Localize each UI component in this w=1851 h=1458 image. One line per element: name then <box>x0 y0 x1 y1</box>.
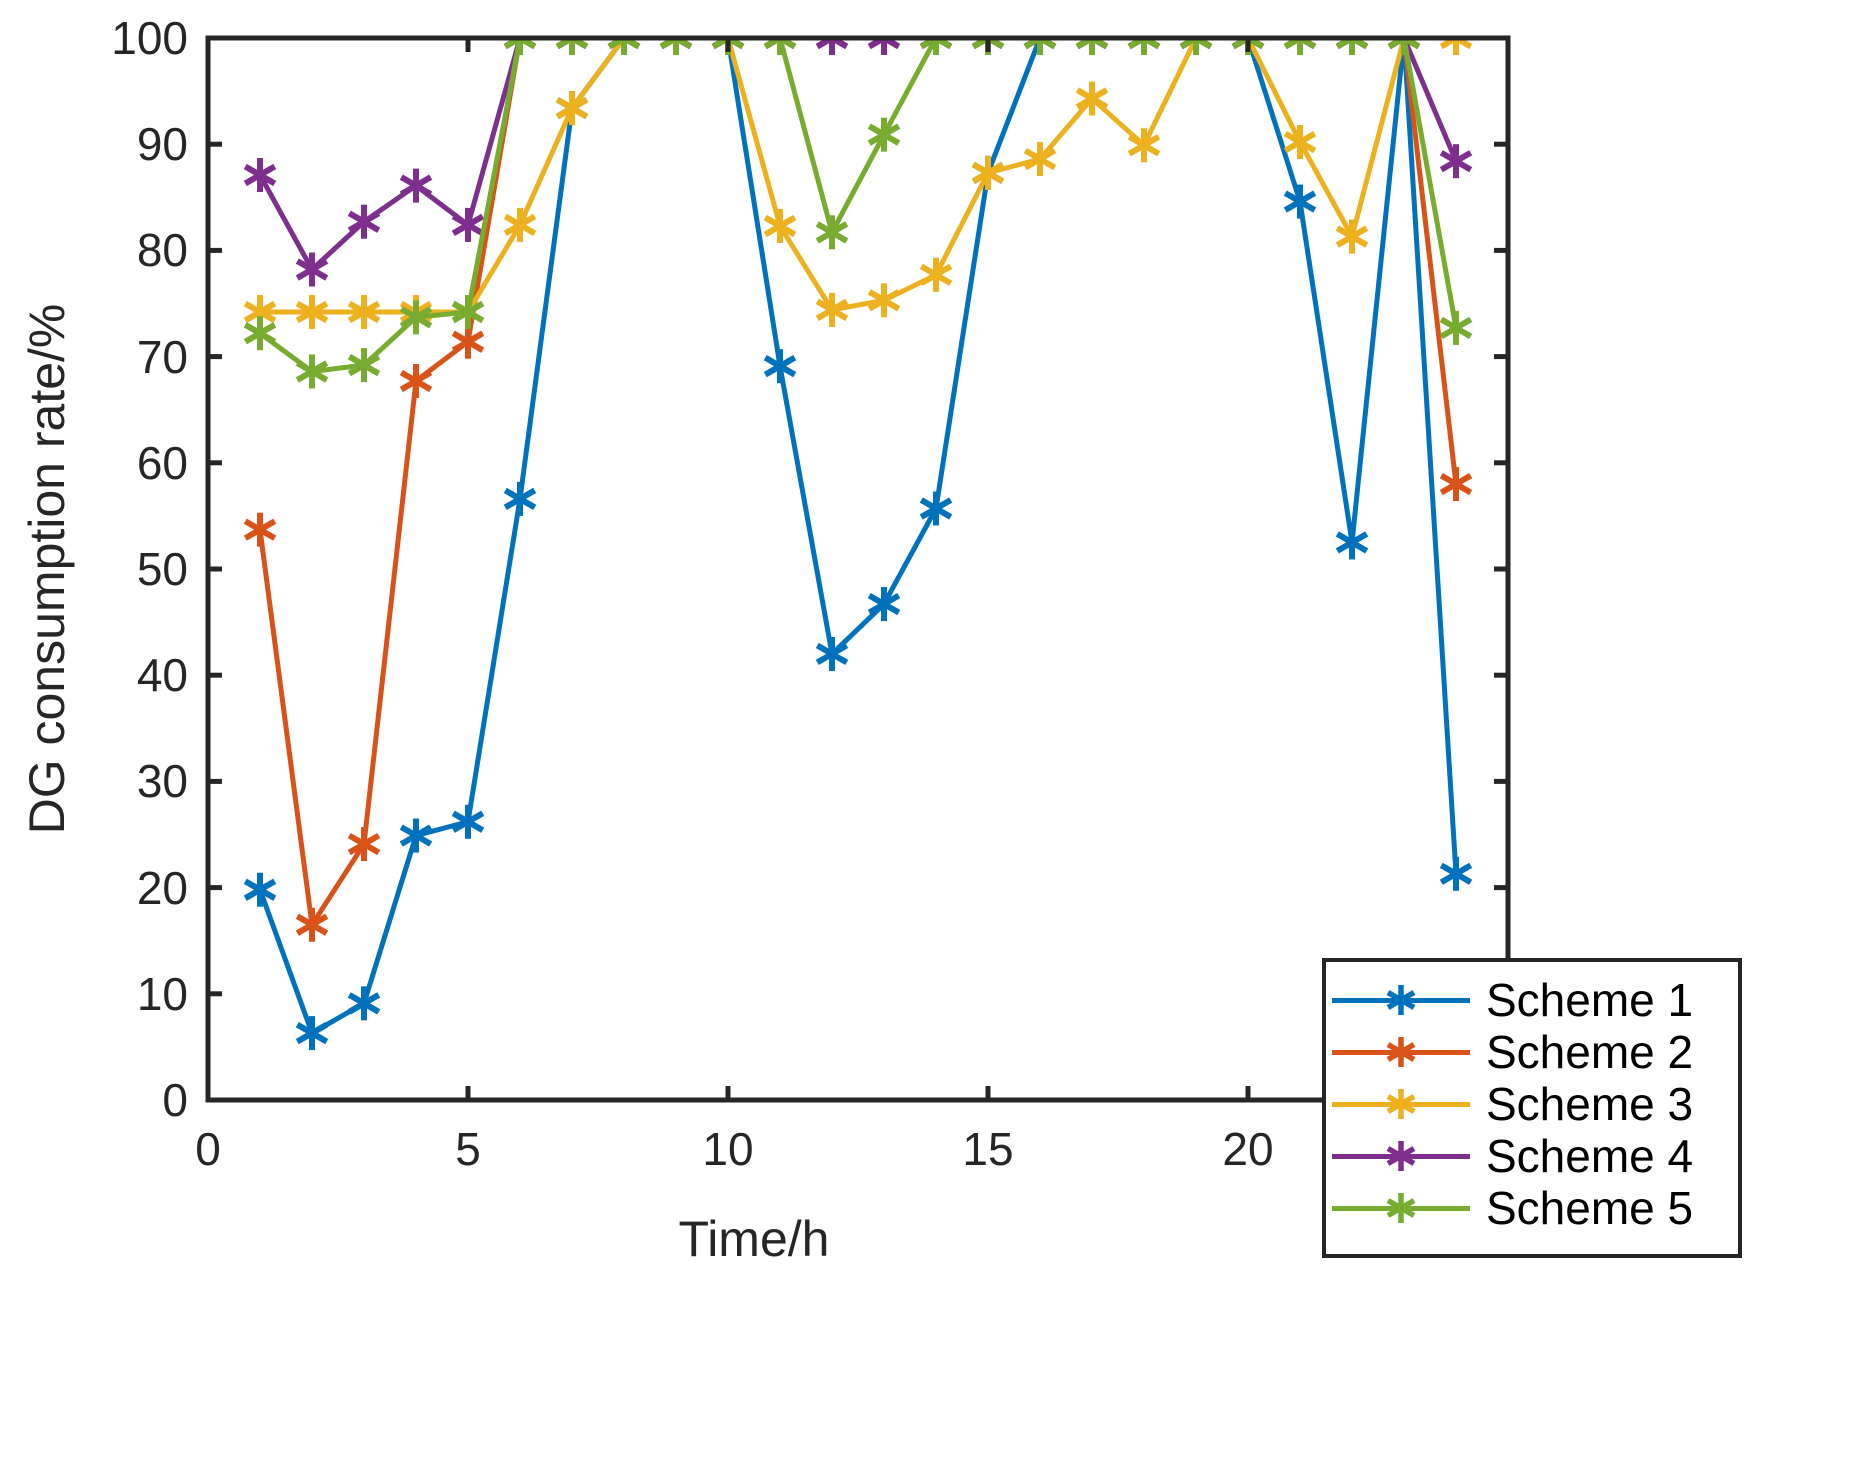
data-point-marker <box>245 158 274 192</box>
data-point-marker <box>1285 185 1314 219</box>
data-point-marker <box>349 986 378 1020</box>
data-point-marker <box>401 364 430 398</box>
asterisk-icon <box>1381 1136 1421 1176</box>
x-tick-label: 10 <box>702 1126 753 1172</box>
legend-item-1[interactable]: Scheme 1 <box>1326 974 1738 1026</box>
legend: Scheme 1Scheme 2Scheme 3Scheme 4Scheme 5 <box>1322 958 1742 1258</box>
series-line <box>260 38 1456 270</box>
legend-label: Scheme 5 <box>1476 1185 1693 1231</box>
asterisk-icon <box>1381 1188 1421 1228</box>
legend-label: Scheme 1 <box>1476 977 1693 1023</box>
data-point-marker <box>401 169 430 203</box>
asterisk-icon <box>1381 1084 1421 1124</box>
x-tick-label: 15 <box>962 1126 1013 1172</box>
y-tick-label: 0 <box>60 1077 188 1123</box>
data-point-marker <box>1441 311 1470 345</box>
series-line <box>260 38 1456 312</box>
asterisk-icon <box>1381 980 1421 1020</box>
y-tick-label: 50 <box>60 546 188 592</box>
y-tick-label: 10 <box>60 971 188 1017</box>
legend-item-4[interactable]: Scheme 4 <box>1326 1130 1738 1182</box>
data-point-marker <box>453 805 482 839</box>
data-point-marker <box>1441 144 1470 178</box>
series-layer <box>245 21 1470 1050</box>
data-point-marker <box>245 513 274 547</box>
legend-label: Scheme 3 <box>1476 1081 1693 1127</box>
y-tick-label: 70 <box>60 334 188 380</box>
data-point-marker <box>297 1016 326 1050</box>
y-tick-label: 90 <box>60 121 188 167</box>
legend-label: Scheme 4 <box>1476 1133 1693 1179</box>
legend-swatch <box>1326 1078 1476 1130</box>
series-line <box>260 38 1456 925</box>
y-tick-label: 100 <box>60 15 188 61</box>
legend-item-2[interactable]: Scheme 2 <box>1326 1026 1738 1078</box>
data-point-marker <box>817 215 846 249</box>
data-point-marker <box>453 208 482 242</box>
data-point-marker <box>869 118 898 152</box>
x-tick-label: 0 <box>195 1126 221 1172</box>
data-point-marker <box>401 819 430 853</box>
legend-item-5[interactable]: Scheme 5 <box>1326 1182 1738 1234</box>
legend-swatch <box>1326 1026 1476 1078</box>
data-point-marker <box>1337 525 1366 559</box>
y-tick-label: 30 <box>60 758 188 804</box>
data-point-marker <box>1285 125 1314 159</box>
data-point-marker <box>453 325 482 359</box>
data-point-marker <box>505 208 534 242</box>
y-tick-label: 40 <box>60 652 188 698</box>
data-point-marker <box>505 482 534 516</box>
x-tick-label: 20 <box>1222 1126 1273 1172</box>
asterisk-icon <box>1381 1032 1421 1072</box>
series-5 <box>245 21 1470 388</box>
legend-swatch <box>1326 974 1476 1026</box>
y-tick-label: 20 <box>60 865 188 911</box>
data-point-marker <box>921 258 950 292</box>
x-axis-label: Time/h <box>0 1210 1508 1268</box>
legend-swatch <box>1326 1182 1476 1234</box>
legend-item-3[interactable]: Scheme 3 <box>1326 1078 1738 1130</box>
legend-label: Scheme 2 <box>1476 1029 1693 1075</box>
y-tick-label: 80 <box>60 227 188 273</box>
legend-swatch <box>1326 1130 1476 1182</box>
chart-figure: 0102030405060708090100 0510152025 DG con… <box>0 0 1851 1458</box>
data-point-marker <box>973 156 1002 190</box>
data-point-marker <box>921 491 950 525</box>
x-tick-label: 5 <box>455 1126 481 1172</box>
data-point-marker <box>765 349 794 383</box>
data-point-marker <box>1337 220 1366 254</box>
y-axis-label: DG consumption rate/% <box>18 304 76 835</box>
y-tick-label: 60 <box>60 440 188 486</box>
data-point-marker <box>1441 467 1470 501</box>
data-point-marker <box>245 873 274 907</box>
data-point-marker <box>1441 857 1470 891</box>
